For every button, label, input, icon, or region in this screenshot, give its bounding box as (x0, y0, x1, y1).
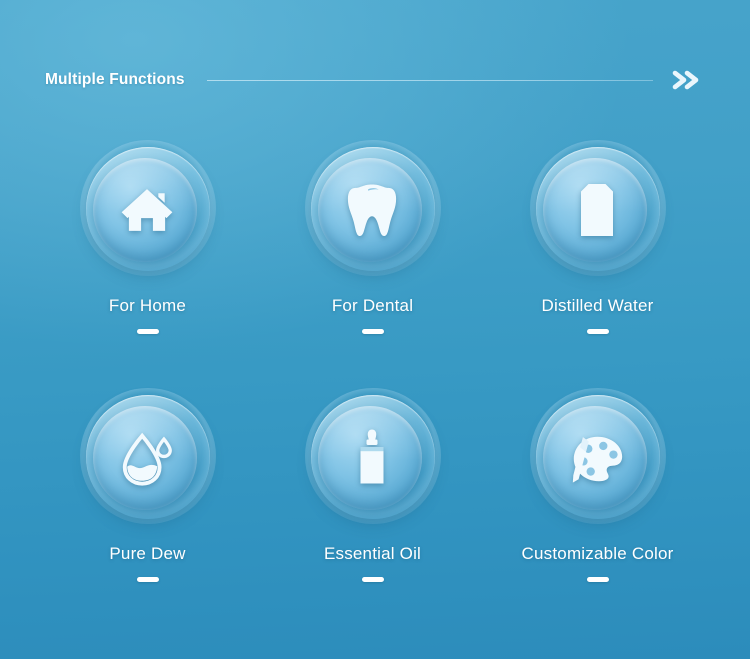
label-underline (587, 329, 609, 334)
feature-label: Distilled Water (542, 296, 654, 316)
feature-item-for-dental[interactable]: For Dental (260, 140, 485, 388)
section-header: Multiple Functions (45, 66, 705, 94)
multiple-functions-panel: Multiple Functions (0, 0, 750, 659)
feature-item-essential-oil[interactable]: Essential Oil (260, 388, 485, 636)
feature-button-essential-oil[interactable] (305, 388, 441, 524)
feature-grid: For Home For Dental (0, 140, 750, 636)
paint-palette-icon (565, 426, 629, 490)
label-underline (137, 577, 159, 582)
feature-button-customizable-color[interactable] (530, 388, 666, 524)
feature-button-for-dental[interactable] (305, 140, 441, 276)
feature-label: Essential Oil (324, 544, 421, 564)
tooth-icon (340, 178, 404, 242)
feature-item-customizable-color[interactable]: Customizable Color (485, 388, 710, 636)
feature-label: For Dental (332, 296, 413, 316)
feature-label: Customizable Color (522, 544, 674, 564)
double-chevron-right-icon[interactable] (671, 68, 705, 92)
feature-item-for-home[interactable]: For Home (35, 140, 260, 388)
feature-button-pure-dew[interactable] (80, 388, 216, 524)
feature-item-distilled-water[interactable]: Distilled Water (485, 140, 710, 388)
header-divider (207, 80, 653, 81)
feature-item-pure-dew[interactable]: Pure Dew (35, 388, 260, 636)
feature-button-distilled-water[interactable] (530, 140, 666, 276)
label-underline (137, 329, 159, 334)
water-bottle-icon (565, 178, 629, 242)
feature-button-for-home[interactable] (80, 140, 216, 276)
dropper-bottle-icon (340, 426, 404, 490)
feature-label: Pure Dew (109, 544, 185, 564)
house-icon (115, 178, 179, 242)
water-droplet-icon (115, 426, 179, 490)
feature-label: For Home (109, 296, 186, 316)
section-title: Multiple Functions (45, 71, 185, 89)
label-underline (362, 577, 384, 582)
label-underline (587, 577, 609, 582)
label-underline (362, 329, 384, 334)
